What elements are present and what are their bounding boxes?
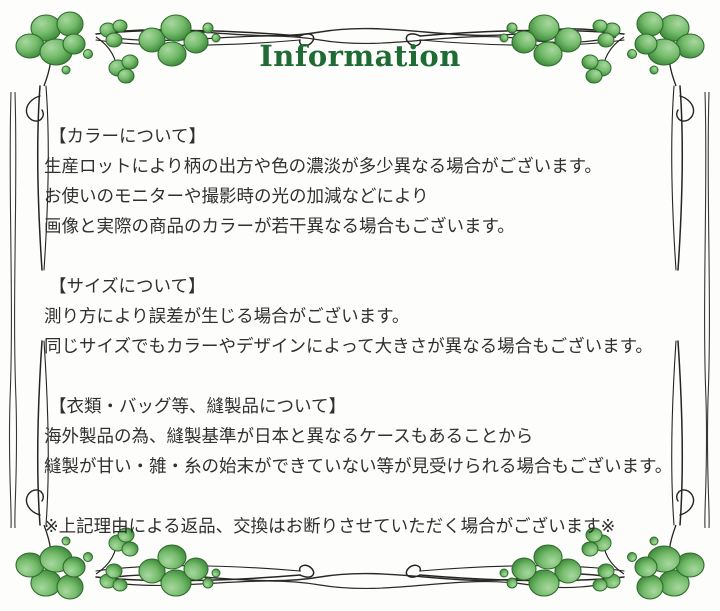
section-line: 海外製品の為、縫製基準が日本と異なるケースもあることから	[44, 422, 684, 452]
right-border-vine	[705, 92, 710, 528]
left-border-vine	[9, 92, 16, 528]
section-line: お使いのモニターや撮影時の光の加減などにより	[44, 182, 684, 212]
section-size: 【サイズについて】 測り方により誤差が生じる場合がございます。 同じサイズでもカ…	[44, 272, 684, 362]
section-line: 画像と実際の商品のカラーが若干異なる場合もございます。	[44, 212, 684, 242]
section-line: 同じサイズでもカラーやデザインによって大きさが異なる場合もございます。	[44, 332, 684, 362]
section-heading-sewn-products: 【衣類・バッグ等、縫製品について】	[49, 392, 684, 422]
section-color: 【カラーについて】 生産ロットにより柄の出方や色の濃淡が多少異なる場合がございま…	[44, 122, 684, 242]
section-line: 測り方により誤差が生じる場合がございます。	[44, 302, 684, 332]
section-line: 生産ロットにより柄の出方や色の濃淡が多少異なる場合がございます。	[44, 152, 684, 182]
section-line: 縫製が甘い・雑・糸の始末ができていない等が見受けられる場合もございます。	[44, 452, 684, 482]
information-panel: Information 【カラーについて】 生産ロットにより柄の出方や色の濃淡が…	[0, 0, 720, 611]
section-heading-color: 【カラーについて】	[49, 122, 684, 152]
bottom-border-vine	[108, 574, 616, 589]
section-sewn-products: 【衣類・バッグ等、縫製品について】 海外製品の為、縫製基準が日本と異なるケースも…	[44, 392, 684, 482]
returns-footnote: ※上記理由による返品、交換はお断りさせていただく場合がございます※	[44, 512, 684, 542]
section-heading-size: 【サイズについて】	[49, 272, 684, 302]
information-body: 【カラーについて】 生産ロットにより柄の出方や色の濃淡が多少異なる場合がございま…	[44, 122, 684, 542]
page-title: Information	[0, 42, 720, 71]
